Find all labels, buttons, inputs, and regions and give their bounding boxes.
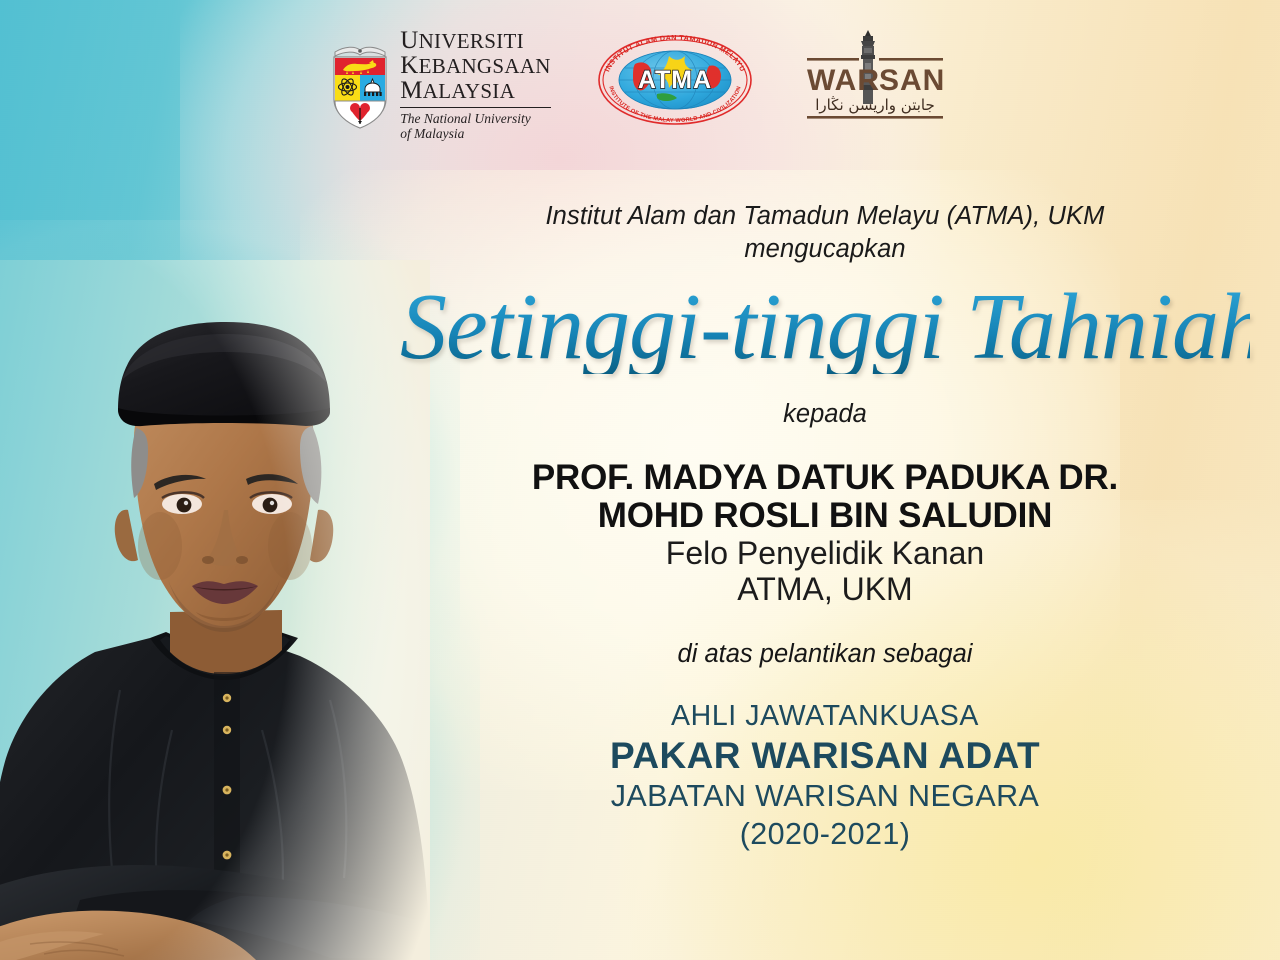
honoree-name-line-2: MOHD ROSLI BIN SALUDIN xyxy=(400,497,1250,535)
ukm-line3-rest: ALAYSIA xyxy=(423,79,515,103)
ukm-line2-rest: EBANGSAAN xyxy=(419,54,551,78)
intro-line-2: mengucapkan xyxy=(400,233,1250,266)
honoree-role-line-1: Felo Penyelidik Kanan xyxy=(400,535,1250,571)
ukm-divider xyxy=(400,107,551,108)
atma-acronym: ATMA xyxy=(638,66,712,94)
honoree-role-line-2: ATMA, UKM xyxy=(400,571,1250,607)
kepada-label: kepada xyxy=(400,400,1250,429)
headline-setinggi-tinggi-tahniah: Setinggi-tinggi Tahniah xyxy=(400,280,1250,374)
ukm-tagline-line1: The National University xyxy=(400,111,551,126)
honoree-block: PROF. MADYA DATUK PADUKA DR. MOHD ROSLI … xyxy=(400,459,1250,608)
honoree-name-line-1: PROF. MADYA DATUK PADUKA DR. xyxy=(400,459,1250,497)
congratulations-poster: UNIVERSITI KEBANGSAAN MALAYSIA The Natio… xyxy=(0,0,1280,960)
appointment-block: AHLI JAWATANKUASA PAKAR WARISAN ADAT JAB… xyxy=(400,699,1250,853)
award-line-4: (2020-2021) xyxy=(400,815,1250,853)
atma-logo: ATMA INSTITUT ALAM DAN TAMADUN MELAYU IN… xyxy=(591,28,759,128)
warisan-rule-bottom xyxy=(807,116,943,119)
ukm-line1-initial: U xyxy=(400,27,418,54)
warisan-wordmark-right: SAN xyxy=(879,64,945,97)
warisan-logo: WAR SAN جابتن واريسن نڭارا xyxy=(799,28,951,128)
poster-text-block: Institut Alam dan Tamadun Melayu (ATMA),… xyxy=(400,200,1250,853)
honoree-portrait xyxy=(0,260,430,960)
warisan-wordmark-left: WAR xyxy=(807,64,880,97)
ukm-shield-icon xyxy=(329,39,391,131)
award-line-3: JABATAN WARISAN NEGARA xyxy=(400,778,1250,815)
ukm-tagline-line2: of Malaysia xyxy=(400,126,551,141)
logo-row: UNIVERSITI KEBANGSAAN MALAYSIA The Natio… xyxy=(0,28,1280,142)
award-line-2: PAKAR WARISAN ADAT xyxy=(400,734,1250,778)
appointment-intro: di atas pelantikan sebagai xyxy=(400,640,1250,669)
warisan-jawi-text: جابتن واريسن نڭارا xyxy=(815,96,935,114)
warisan-rule-top-right xyxy=(879,58,943,61)
intro-text: Institut Alam dan Tamadun Melayu (ATMA),… xyxy=(400,200,1250,266)
award-line-1: AHLI JAWATANKUASA xyxy=(400,699,1250,734)
ukm-line1-rest: NIVERSITI xyxy=(419,29,524,53)
intro-line-1: Institut Alam dan Tamadun Melayu (ATMA),… xyxy=(400,200,1250,233)
warisan-rule-top-left xyxy=(807,58,859,61)
ukm-line2-initial: K xyxy=(400,52,418,79)
ukm-logo: UNIVERSITI KEBANGSAAN MALAYSIA The Natio… xyxy=(329,28,551,142)
ukm-line3-initial: M xyxy=(400,77,423,104)
ukm-wordmark: UNIVERSITI KEBANGSAAN MALAYSIA The Natio… xyxy=(400,28,551,142)
